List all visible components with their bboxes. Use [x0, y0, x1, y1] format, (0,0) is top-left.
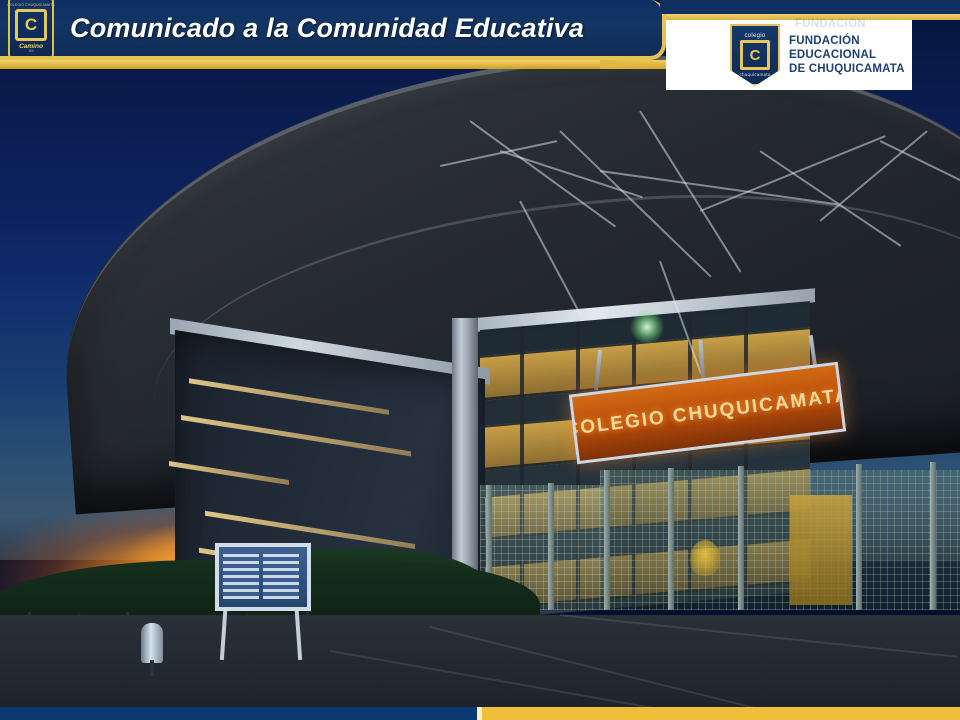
fence-post [930, 462, 936, 610]
trash-bin [141, 623, 163, 663]
fence-post [856, 464, 862, 610]
facade-light-strip [181, 415, 411, 456]
gold-divider-bar [0, 60, 672, 69]
gate-crest-emblem [690, 540, 720, 576]
school-crest-icon: COLEGIO CHUQUICAMATA C Camino 100 [8, 0, 54, 58]
foundation-wordmark: FUNDACIÓN EDUCACIONAL DE CHUQUICAMATA [789, 34, 905, 76]
notice-sheet [263, 551, 299, 599]
notice-sheet [223, 551, 259, 599]
footer-blue-bar [0, 707, 482, 720]
page-title: Comunicado a la Comunidad Educativa [70, 13, 584, 44]
header-banner: COLEGIO CHUQUICAMATA C Camino 100 Comuni… [0, 0, 666, 60]
crest-monogram: C [15, 9, 47, 41]
perimeter-fence [600, 470, 960, 610]
fence-post [668, 468, 674, 610]
foundation-line-1: FUNDACIÓN [789, 34, 905, 48]
foundation-line-2: EDUCACIONAL [789, 48, 905, 62]
foundation-shield-monogram: C [740, 40, 770, 70]
top-navy-strip [660, 0, 960, 14]
fence-post [738, 466, 744, 610]
fence-post [548, 483, 554, 610]
slide-canvas: COLEGIO CHUQUICAMATA [0, 0, 960, 720]
entrance-sign-text: COLEGIO CHUQUICAMATA [569, 385, 847, 442]
notice-board [215, 543, 311, 611]
green-lamp-glow [630, 310, 664, 344]
foundation-shield-icon: colegio C chuquicamata [730, 24, 780, 86]
footer-yellow-bar [482, 707, 960, 720]
gate-doorway [790, 495, 852, 605]
campus-photo: COLEGIO CHUQUICAMATA [0, 0, 960, 720]
facade-light-strip [189, 378, 389, 415]
crest-years-text: 100 [28, 50, 33, 53]
foundation-logo-panel: colegio C chuquicamata FUNDACIÓN EDUCACI… [666, 20, 912, 90]
foundation-line-3: DE CHUQUICAMATA [789, 62, 905, 76]
trash-bin-post [150, 660, 154, 676]
fence-post [604, 470, 610, 610]
crest-top-text: COLEGIO CHUQUICAMATA [7, 3, 54, 7]
foundation-shield-bottom-text: chuquicamata [739, 72, 770, 77]
foundation-ghost-line: FUNDACIÓN [795, 18, 866, 30]
foundation-shield-top-text: colegio [744, 33, 765, 39]
facade-light-strip [169, 461, 289, 485]
